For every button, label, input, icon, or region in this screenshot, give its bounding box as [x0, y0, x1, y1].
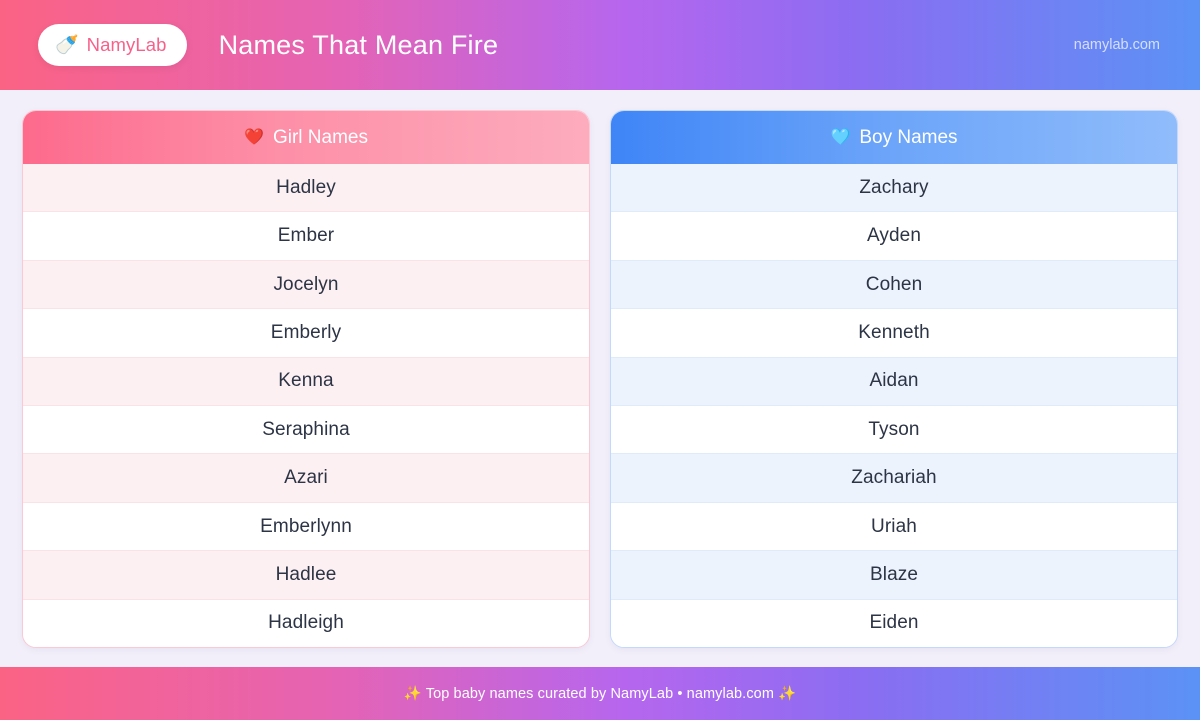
girl-names-header: ❤️ Girl Names [23, 111, 589, 164]
red-heart-icon: ❤️ [244, 130, 264, 146]
list-item[interactable]: Emberly [23, 308, 589, 356]
header-site-url: namylab.com [1074, 37, 1172, 53]
baby-bottle-icon: 🍼 [55, 36, 79, 55]
list-item[interactable]: Tyson [611, 405, 1177, 453]
footer-credit: ✨ Top baby names curated by NamyLab • na… [404, 685, 797, 702]
list-item[interactable]: Ember [23, 211, 589, 259]
list-item[interactable]: Uriah [611, 502, 1177, 550]
boy-names-header: 🩵 Boy Names [611, 111, 1177, 164]
list-item[interactable]: Kenneth [611, 308, 1177, 356]
brand-badge[interactable]: 🍼 NamyLab [38, 24, 187, 66]
page-header: 🍼 NamyLab Names That Mean Fire namylab.c… [0, 0, 1200, 90]
list-item[interactable]: Ayden [611, 211, 1177, 259]
main-content: ❤️ Girl Names Hadley Ember Jocelyn Ember… [0, 90, 1200, 667]
boy-names-card: 🩵 Boy Names Zachary Ayden Cohen Kenneth … [610, 110, 1178, 648]
girl-names-title: Girl Names [273, 127, 368, 149]
list-item[interactable]: Zachariah [611, 453, 1177, 501]
list-item[interactable]: Jocelyn [23, 260, 589, 308]
list-item[interactable]: Hadlee [23, 550, 589, 598]
girl-names-card: ❤️ Girl Names Hadley Ember Jocelyn Ember… [22, 110, 590, 648]
list-item[interactable]: Zachary [611, 164, 1177, 211]
list-item[interactable]: Blaze [611, 550, 1177, 598]
brand-name: NamyLab [87, 34, 167, 56]
boy-names-title: Boy Names [859, 127, 957, 149]
list-item[interactable]: Eiden [611, 599, 1177, 647]
light-blue-heart-icon: 🩵 [830, 130, 850, 146]
list-item[interactable]: Cohen [611, 260, 1177, 308]
list-item[interactable]: Azari [23, 453, 589, 501]
page-title: Names That Mean Fire [219, 30, 499, 61]
list-item[interactable]: Emberlynn [23, 502, 589, 550]
list-item[interactable]: Hadley [23, 164, 589, 211]
page-footer: ✨ Top baby names curated by NamyLab • na… [0, 667, 1200, 720]
list-item[interactable]: Kenna [23, 357, 589, 405]
girl-names-list: Hadley Ember Jocelyn Emberly Kenna Serap… [23, 164, 589, 647]
list-item[interactable]: Seraphina [23, 405, 589, 453]
boy-names-list: Zachary Ayden Cohen Kenneth Aidan Tyson … [611, 164, 1177, 647]
list-item[interactable]: Hadleigh [23, 599, 589, 647]
page-root: 🍼 NamyLab Names That Mean Fire namylab.c… [0, 0, 1200, 720]
list-item[interactable]: Aidan [611, 357, 1177, 405]
